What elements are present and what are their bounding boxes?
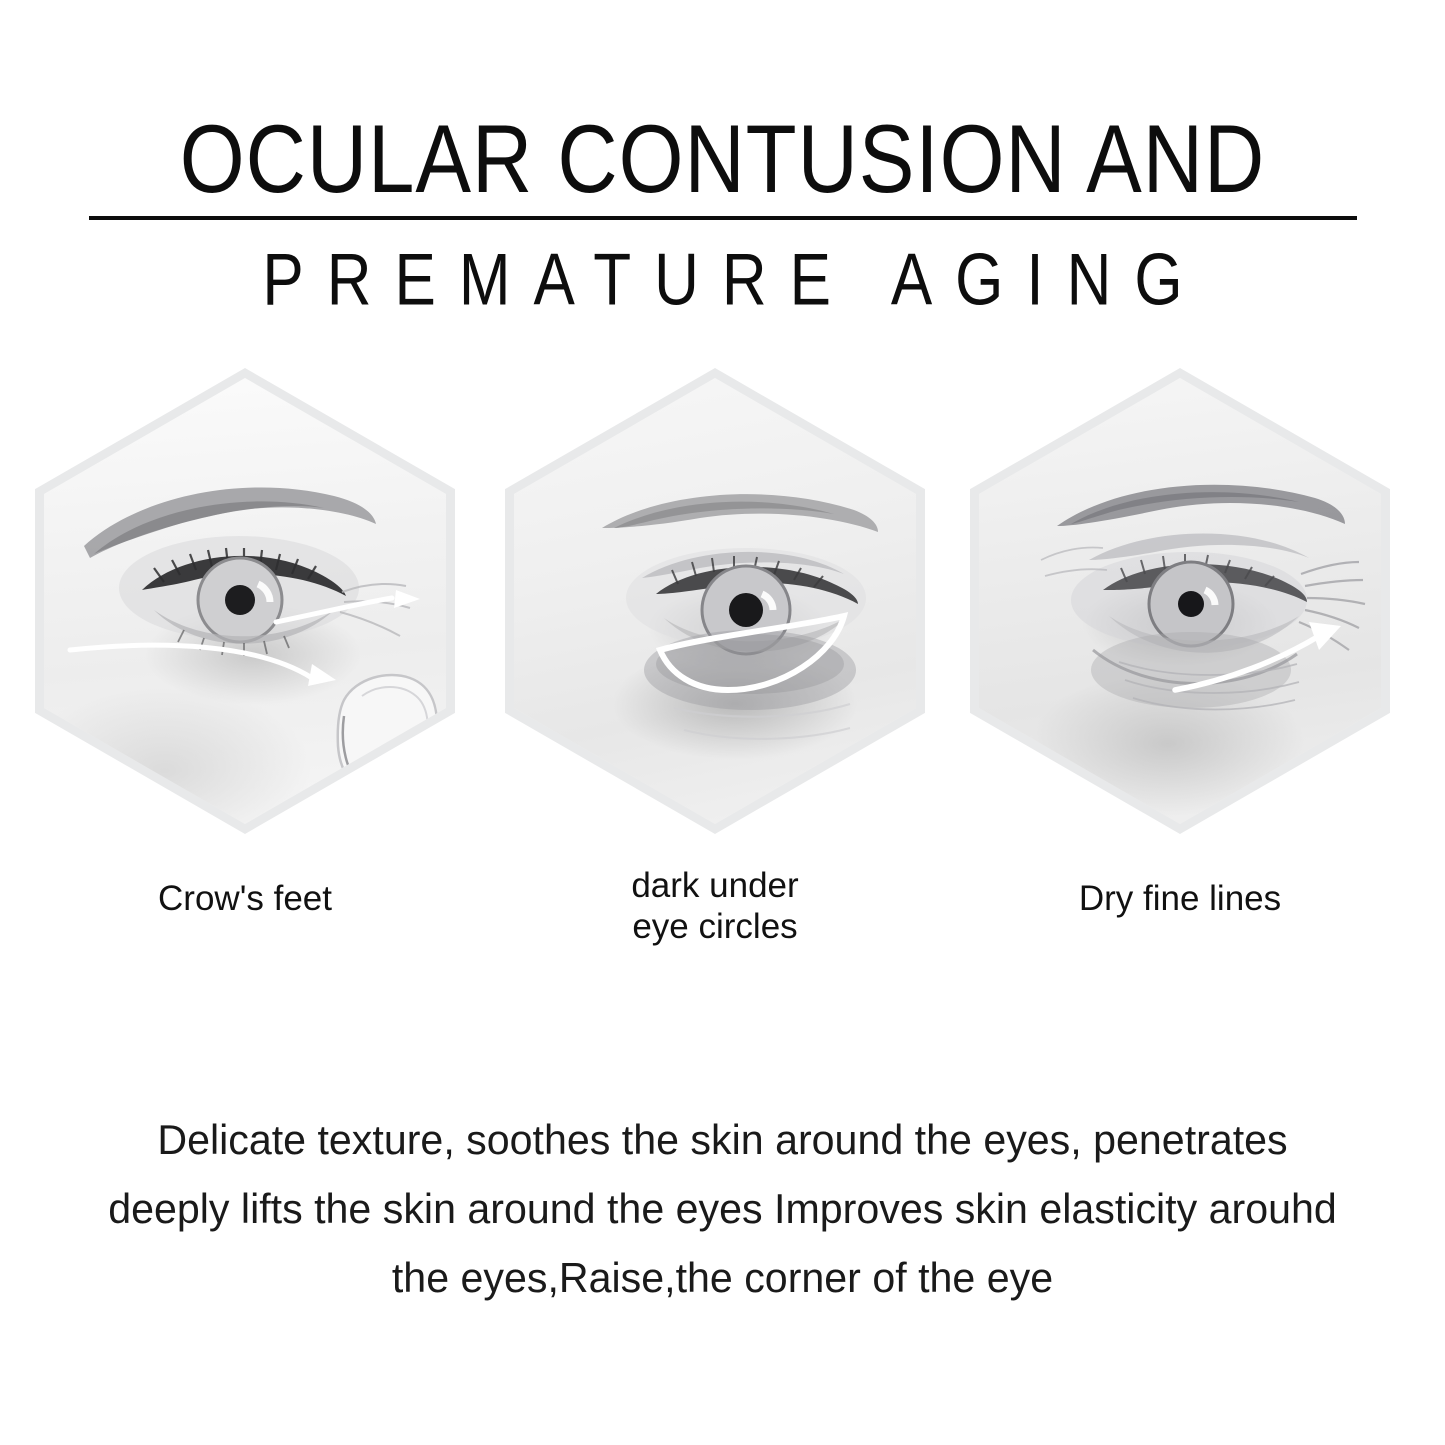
- arrow-lower: [70, 645, 312, 678]
- hexagon-photo-mask: [514, 378, 916, 824]
- concern-hexagon-row: [0, 368, 1445, 838]
- eye-illustration-dark-circles: [514, 378, 916, 824]
- page-title-primary: OCULAR CONTUSION AND: [22, 108, 1424, 211]
- hexagon-photo-mask: [979, 378, 1381, 824]
- eye-illustration-crows-feet: [44, 378, 446, 824]
- concern-card-fine-lines: [970, 368, 1390, 834]
- eye-illustration-fine-lines: [979, 378, 1381, 824]
- page-title-secondary: PREMATURE AGING: [0, 242, 1445, 320]
- caption-crows-feet: Crow's feet: [35, 878, 455, 919]
- caption-fine-lines: Dry fine lines: [970, 878, 1390, 919]
- title-divider-rule: [89, 216, 1357, 220]
- page-title-block: OCULAR CONTUSION AND PREMATURE AGING: [0, 108, 1445, 308]
- concern-card-crows-feet: [35, 368, 455, 834]
- fingertip-shape: [338, 675, 437, 796]
- concern-card-dark-circles: [505, 368, 925, 834]
- product-description-paragraph: Delicate texture, soothes the skin aroun…: [108, 1105, 1338, 1312]
- hexagon-photo-mask: [44, 378, 446, 824]
- caption-dark-circles: dark under eye circles: [505, 865, 925, 947]
